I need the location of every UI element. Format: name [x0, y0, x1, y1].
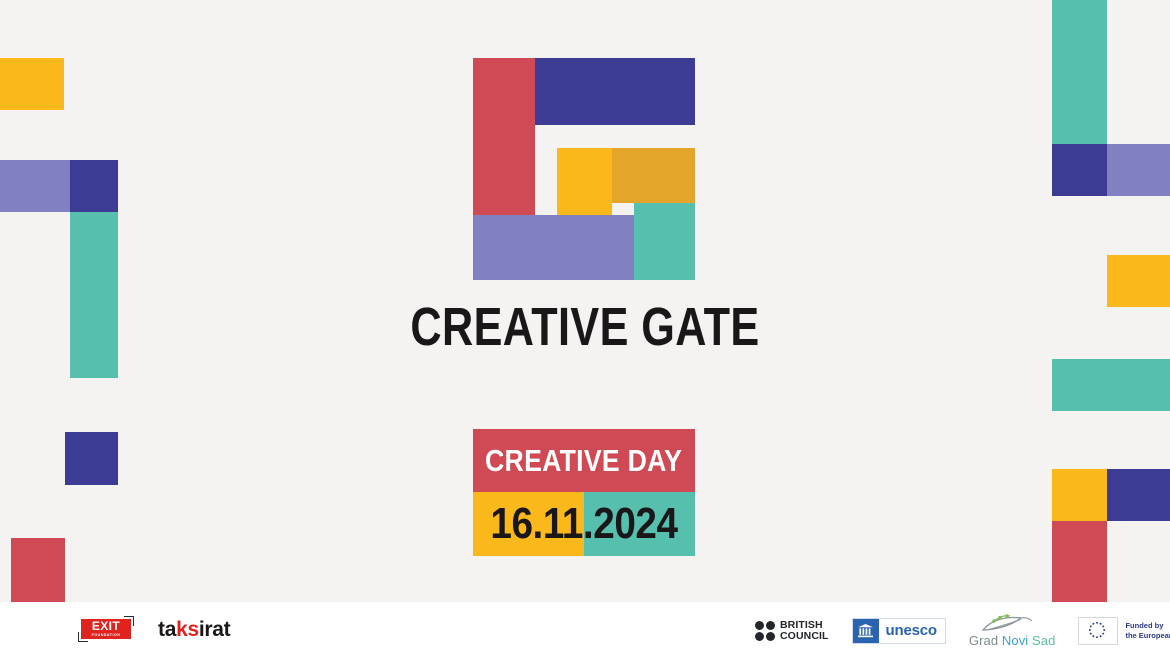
badge-date-band: 16.11.2024	[473, 492, 695, 556]
british-council-logo[interactable]: BRITISH COUNCIL	[755, 620, 829, 641]
logo-tile-teal-block	[634, 203, 695, 280]
exit-foundation-logo[interactable]: EXIT FOUNDATION	[78, 616, 134, 642]
footer-organizer-logos: EXIT FOUNDATION taksirat	[78, 616, 230, 642]
deco-blue-bottom-right	[1107, 469, 1170, 521]
deco-blue-right	[1052, 144, 1107, 196]
poster-canvas: CREATIVE GATE CREATIVE DAY 16.11.2024 EX…	[0, 0, 1170, 658]
badge-date-text: 16.11.2024	[486, 492, 681, 556]
taksirat-part-3: irat	[199, 618, 230, 641]
deco-teal-right-bar	[1052, 359, 1170, 411]
deco-yellow-bottom-right	[1052, 469, 1107, 521]
british-council-line-2: COUNCIL	[780, 631, 829, 642]
footer-supporter-logos: BRITISH COUNCIL unesco	[755, 614, 1170, 647]
grad-novi-sad-text: Grad Novi Sad	[969, 634, 1056, 647]
creative-gate-logo-mark	[473, 58, 695, 280]
exit-logo-box: EXIT FOUNDATION	[81, 619, 131, 639]
deco-yellow-top-left	[0, 58, 64, 110]
deco-red-bottom-right	[1052, 521, 1107, 602]
logo-tile-gold-block	[612, 148, 695, 203]
exit-logo-main-text: EXIT	[92, 620, 120, 632]
taksirat-part-2-accent: ks	[176, 618, 199, 641]
creative-day-badge: CREATIVE DAY 16.11.2024	[473, 429, 695, 556]
eu-flag-icon	[1078, 617, 1118, 645]
logo-tile-yellow-square	[557, 148, 612, 215]
eu-funded-line-2: the European Union	[1125, 631, 1170, 641]
british-council-dots-icon	[755, 621, 775, 641]
deco-red-bottom-left	[11, 538, 65, 602]
grad-novi-sad-word-1: Grad	[969, 633, 998, 648]
footer-bar: EXIT FOUNDATION taksirat BRITISH COUNCIL	[0, 602, 1170, 658]
grad-novi-sad-word-3: Sad	[1032, 633, 1055, 648]
taksirat-logo[interactable]: taksirat	[158, 619, 230, 640]
logo-tile-purple-bar	[473, 215, 634, 280]
unesco-logo[interactable]: unesco	[852, 618, 946, 644]
deco-purple-left	[0, 160, 70, 212]
eu-funded-line-1: Funded by	[1125, 621, 1170, 631]
exit-logo-sub-text: FOUNDATION	[92, 634, 121, 638]
unesco-temple-icon	[853, 619, 879, 643]
grad-novi-sad-logo[interactable]: Grad Novi Sad	[969, 614, 1056, 647]
deco-blue-square-left	[65, 432, 118, 485]
deco-purple-right	[1107, 144, 1170, 196]
taksirat-part-1: ta	[158, 618, 176, 641]
creative-gate-wordmark: CREATIVE GATE	[117, 300, 1053, 354]
eu-funded-logo[interactable]: Funded by the European Union	[1078, 617, 1170, 645]
badge-headline-text: CREATIVE DAY	[485, 445, 682, 476]
eu-funded-text: Funded by the European Union	[1125, 621, 1170, 640]
british-council-line-1: BRITISH	[780, 620, 829, 631]
british-council-text: BRITISH COUNCIL	[780, 620, 829, 641]
deco-teal-right-column	[1052, 0, 1107, 144]
deco-blue-left	[70, 160, 118, 212]
deco-teal-left-column	[70, 212, 118, 378]
deco-yellow-right	[1107, 255, 1170, 307]
logo-tile-red-column	[473, 58, 535, 215]
unesco-wordmark: unesco	[879, 623, 945, 638]
grad-novi-sad-word-2: Novi	[1002, 633, 1028, 648]
badge-headline-band: CREATIVE DAY	[473, 429, 695, 492]
logo-tile-blue-top-bar	[535, 58, 695, 125]
